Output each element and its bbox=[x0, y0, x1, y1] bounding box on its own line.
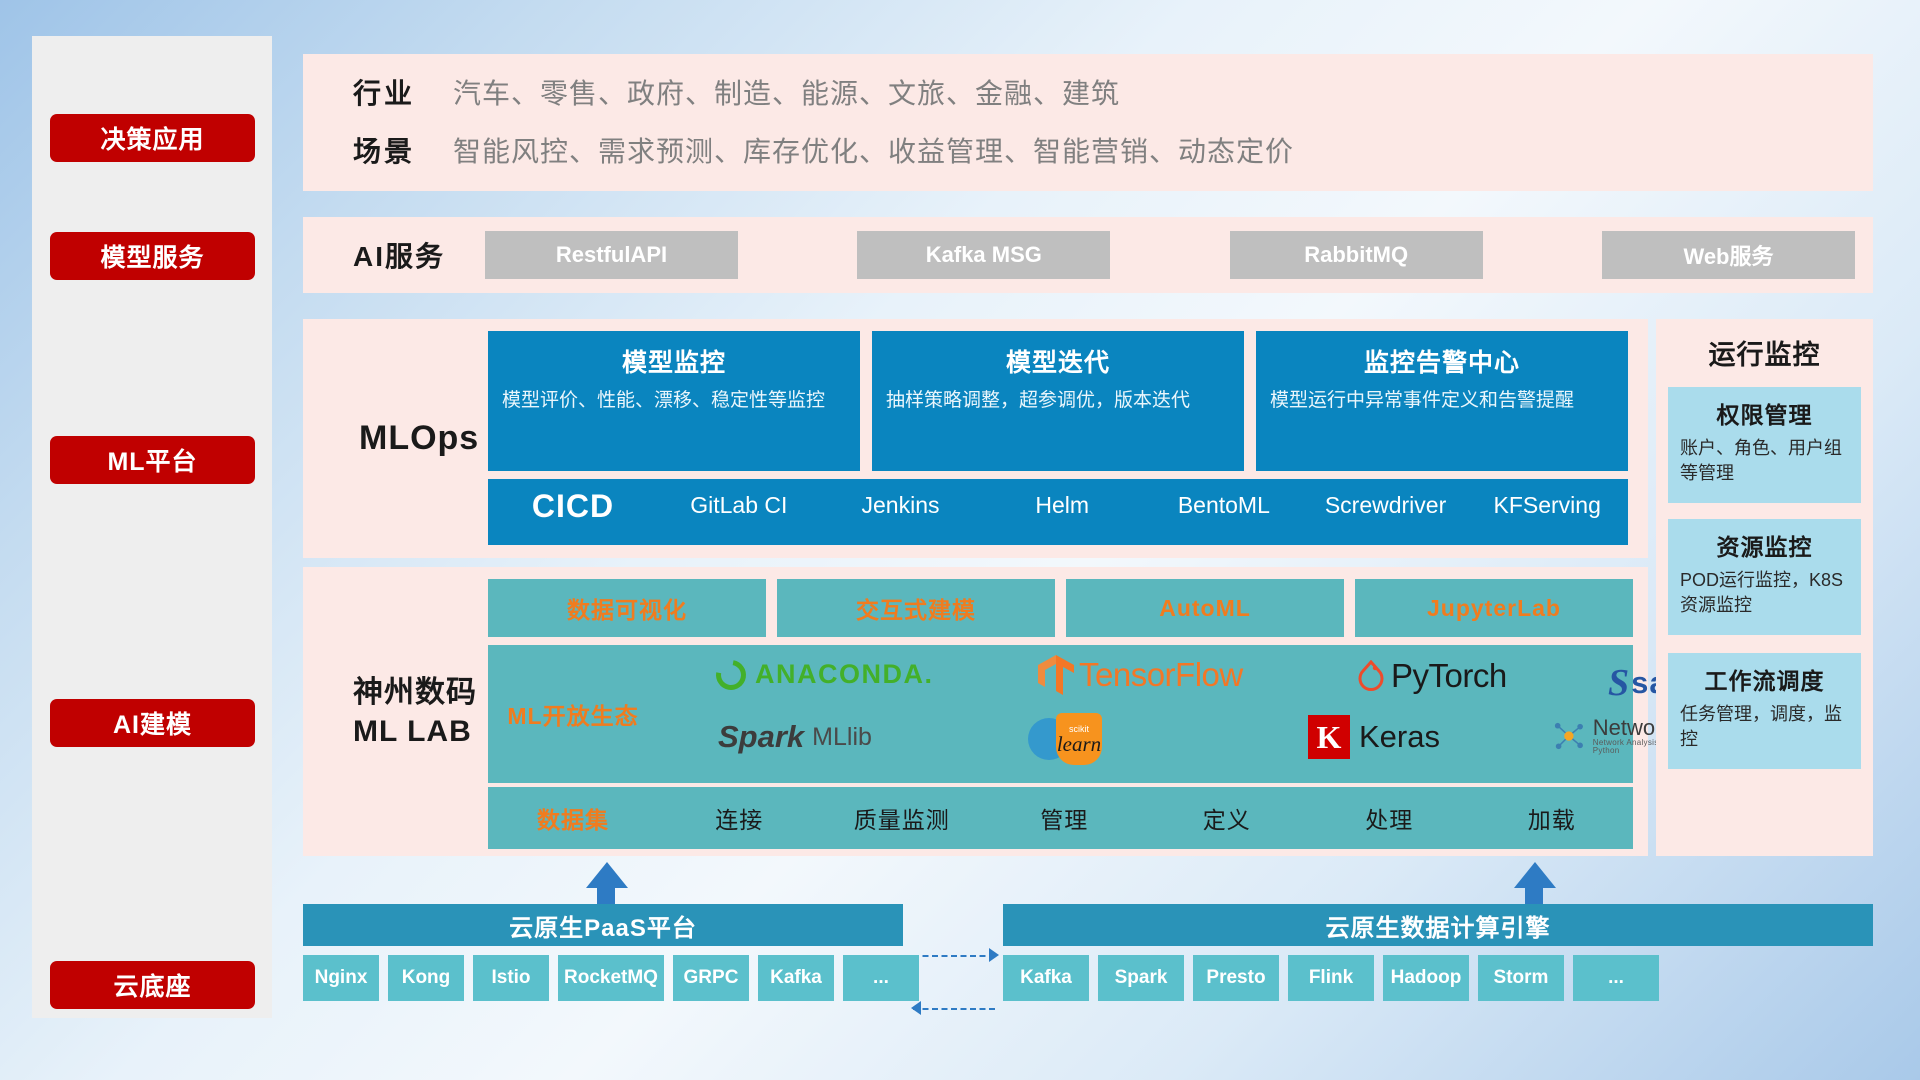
mlops-card-desc: 模型评价、性能、漂移、稳定性等监控 bbox=[502, 388, 846, 414]
mlops-label: MLOps bbox=[359, 319, 479, 558]
ai-service-box-label: Kafka MSG bbox=[926, 242, 1042, 268]
architecture-diagram: 决策应用 模型服务 ML平台 AI建模 云底座 行业 汽车、零售、政府、制造、能… bbox=[0, 0, 1920, 1080]
cloud-chip[interactable]: Hadoop bbox=[1383, 955, 1469, 1001]
rail-label: ML平台 bbox=[107, 442, 197, 478]
dataset-item[interactable]: 处理 bbox=[1308, 801, 1471, 835]
scikit-learn-logo: scikit learn bbox=[1028, 713, 1102, 765]
cloud-engine-chip-list: Kafka Spark Presto Flink Hadoop Storm ..… bbox=[1003, 955, 1659, 1001]
monitor-card[interactable]: 工作流调度 任务管理，调度，监控 bbox=[1668, 653, 1861, 769]
tensorflow-icon bbox=[1038, 655, 1074, 695]
scikit-orange-icon: scikit learn bbox=[1056, 713, 1102, 765]
ai-service-box-list: RestfulAPI Kafka MSG RabbitMQ Web服务 bbox=[485, 231, 1855, 279]
arrow-stem-left bbox=[597, 886, 615, 904]
dataset-item[interactable]: 管理 bbox=[983, 801, 1146, 835]
pytorch-logo: PyTorch bbox=[1358, 657, 1507, 695]
rail-item-cloud-base[interactable]: 云底座 bbox=[50, 961, 255, 1009]
monitor-card-desc: POD运行监控，K8S资源监控 bbox=[1680, 568, 1849, 618]
scenario-label: 场景 bbox=[323, 130, 453, 170]
cloud-chip[interactable]: Storm bbox=[1478, 955, 1564, 1001]
rail-label: 模型服务 bbox=[100, 238, 204, 274]
anaconda-label: ANACONDA. bbox=[755, 659, 934, 690]
ai-service-label: AI服务 bbox=[353, 217, 445, 293]
mlops-card-list: 模型监控 模型评价、性能、漂移、稳定性等监控 模型迭代 抽样策略调整，超参调优，… bbox=[488, 331, 1628, 471]
scenario-value: 智能风控、需求预测、库存优化、收益管理、智能营销、动态定价 bbox=[453, 130, 1294, 170]
keras-logo: K Keras bbox=[1308, 715, 1440, 759]
dataset-item-list: 连接 质量监测 管理 定义 处理 加载 bbox=[658, 801, 1633, 835]
arrow-stem-right bbox=[1525, 886, 1543, 904]
dataset-item[interactable]: 连接 bbox=[658, 801, 821, 835]
rail-item-ai-modeling[interactable]: AI建模 bbox=[50, 699, 255, 747]
monitor-card-title: 资源监控 bbox=[1680, 528, 1849, 562]
mlops-card-title: 模型监控 bbox=[502, 343, 846, 379]
ai-service-box[interactable]: Kafka MSG bbox=[857, 231, 1110, 279]
arrow-up-right-icon bbox=[1514, 862, 1556, 888]
ml-lab-label-line2: ML LAB bbox=[353, 712, 472, 751]
cicd-item-list: GitLab CI Jenkins Helm BentoML Screwdriv… bbox=[658, 488, 1628, 520]
sas-swirl-icon: S bbox=[1608, 661, 1629, 705]
ml-lab-tool[interactable]: 数据可视化 bbox=[488, 579, 766, 637]
cicd-item[interactable]: GitLab CI bbox=[658, 488, 820, 520]
cloud-paas-bar: 云原生PaaS平台 bbox=[303, 904, 903, 946]
cloud-chip[interactable]: RocketMQ bbox=[558, 955, 664, 1001]
cicd-title: CICD bbox=[488, 488, 658, 525]
dataset-label: 数据集 bbox=[488, 801, 658, 835]
anaconda-icon bbox=[710, 654, 752, 696]
cloud-chip[interactable]: Kong bbox=[388, 955, 464, 1001]
cloud-chip[interactable]: Kafka bbox=[1003, 955, 1089, 1001]
monitor-title: 运行监控 bbox=[1656, 333, 1873, 372]
rail-item-decision-app[interactable]: 决策应用 bbox=[50, 114, 255, 162]
connector-arrow-left-icon bbox=[911, 1001, 921, 1015]
mllib-label: MLlib bbox=[812, 723, 872, 752]
cloud-chip[interactable]: Nginx bbox=[303, 955, 379, 1001]
ai-service-box-label: Web服务 bbox=[1683, 239, 1773, 271]
ai-service-box[interactable]: RabbitMQ bbox=[1230, 231, 1483, 279]
monitor-card[interactable]: 资源监控 POD运行监控，K8S资源监控 bbox=[1668, 519, 1861, 635]
mlops-card-desc: 模型运行中异常事件定义和告警提醒 bbox=[1270, 388, 1614, 414]
ml-ecosystem-logos: ANACONDA. TensorFlow bbox=[658, 645, 1633, 783]
tensorflow-label: TensorFlow bbox=[1079, 656, 1243, 694]
dataset-row: 数据集 连接 质量监测 管理 定义 处理 加载 bbox=[488, 787, 1633, 849]
monitor-card[interactable]: 权限管理 账户、角色、用户组等管理 bbox=[1668, 387, 1861, 503]
dataset-item[interactable]: 定义 bbox=[1146, 801, 1309, 835]
ai-service-box-label: RestfulAPI bbox=[556, 242, 667, 268]
cicd-item[interactable]: Screwdriver bbox=[1305, 488, 1467, 520]
ml-lab-tool-list: 数据可视化 交互式建模 AutoML JupyterLab bbox=[488, 579, 1633, 637]
pytorch-icon bbox=[1358, 660, 1384, 692]
ml-ecosystem-label: ML开放生态 bbox=[488, 697, 658, 731]
networkx-icon bbox=[1553, 719, 1585, 753]
arrow-up-left-icon bbox=[586, 862, 628, 888]
industry-row: 行业 汽车、零售、政府、制造、能源、文旅、金融、建筑 bbox=[323, 72, 1120, 112]
ai-service-box[interactable]: RestfulAPI bbox=[485, 231, 738, 279]
layer-rail: 决策应用 模型服务 ML平台 AI建模 云底座 bbox=[32, 36, 272, 1018]
dataset-item[interactable]: 质量监测 bbox=[821, 801, 984, 835]
mlops-card[interactable]: 监控告警中心 模型运行中异常事件定义和告警提醒 bbox=[1256, 331, 1628, 471]
cicd-bar: CICD GitLab CI Jenkins Helm BentoML Scre… bbox=[488, 479, 1628, 545]
keras-mark: K bbox=[1317, 719, 1342, 756]
rail-item-model-service[interactable]: 模型服务 bbox=[50, 232, 255, 280]
cloud-paas-chip-list: Nginx Kong Istio RocketMQ GRPC Kafka ... bbox=[303, 955, 919, 1001]
rail-label: AI建模 bbox=[113, 705, 192, 741]
cloud-chip[interactable]: GRPC bbox=[673, 955, 749, 1001]
cicd-item[interactable]: Jenkins bbox=[820, 488, 982, 520]
cloud-chip[interactable]: Flink bbox=[1288, 955, 1374, 1001]
ai-service-box-label: RabbitMQ bbox=[1304, 242, 1408, 268]
mlops-card-title: 监控告警中心 bbox=[1270, 343, 1614, 379]
cicd-item[interactable]: Helm bbox=[981, 488, 1143, 520]
dataset-item[interactable]: 加载 bbox=[1471, 801, 1634, 835]
ml-lab-label: 神州数码 ML LAB bbox=[353, 567, 477, 856]
keras-label: Keras bbox=[1359, 719, 1440, 755]
rail-label: 云底座 bbox=[113, 967, 191, 1003]
mlops-card-desc: 抽样策略调整，超参调优，版本迭代 bbox=[886, 388, 1230, 414]
cloud-chip[interactable]: Spark bbox=[1098, 955, 1184, 1001]
cloud-data-engine-bar: 云原生数据计算引擎 bbox=[1003, 904, 1873, 946]
connector-dashed-bottom bbox=[913, 1008, 995, 1010]
tensorflow-logo: TensorFlow bbox=[1038, 655, 1243, 695]
ml-ecosystem-row: ML开放生态 ANACONDA. TensorF bbox=[488, 645, 1633, 783]
connector-arrow-right-icon bbox=[989, 948, 999, 962]
monitor-card-desc: 任务管理，调度，监控 bbox=[1680, 702, 1849, 752]
monitor-panel: 运行监控 权限管理 账户、角色、用户组等管理 资源监控 POD运行监控，K8S资… bbox=[1656, 319, 1873, 856]
ml-lab-tool[interactable]: JupyterLab bbox=[1355, 579, 1633, 637]
cloud-chip[interactable]: Istio bbox=[473, 955, 549, 1001]
connector-dashed-top bbox=[913, 955, 995, 957]
industry-label: 行业 bbox=[323, 72, 453, 112]
industry-value: 汽车、零售、政府、制造、能源、文旅、金融、建筑 bbox=[453, 72, 1120, 112]
monitor-card-desc: 账户、角色、用户组等管理 bbox=[1680, 436, 1849, 486]
rail-item-ml-platform[interactable]: ML平台 bbox=[50, 436, 255, 484]
spark-logo: Spark MLlib bbox=[718, 719, 872, 755]
ml-lab-content: 数据可视化 交互式建模 AutoML JupyterLab ML开放生态 ANA… bbox=[488, 579, 1633, 849]
cicd-item[interactable]: KFServing bbox=[1466, 488, 1628, 520]
pytorch-label: PyTorch bbox=[1391, 657, 1507, 695]
ml-lab-tool[interactable]: AutoML bbox=[1066, 579, 1344, 637]
spark-label: Spark bbox=[718, 719, 804, 755]
ml-lab-tool[interactable]: 交互式建模 bbox=[777, 579, 1055, 637]
cloud-chip[interactable]: ... bbox=[843, 955, 919, 1001]
monitor-card-title: 工作流调度 bbox=[1680, 662, 1849, 696]
ml-lab-label-line1: 神州数码 bbox=[353, 673, 477, 712]
cloud-chip[interactable]: Presto bbox=[1193, 955, 1279, 1001]
cloud-chip[interactable]: ... bbox=[1573, 955, 1659, 1001]
main-column: 行业 汽车、零售、政府、制造、能源、文旅、金融、建筑 场景 智能风控、需求预测、… bbox=[303, 0, 1893, 1080]
cloud-chip[interactable]: Kafka bbox=[758, 955, 834, 1001]
ml-lab-panel: 神州数码 ML LAB 数据可视化 交互式建模 AutoML JupyterLa… bbox=[303, 567, 1648, 856]
mlops-card-title: 模型迭代 bbox=[886, 343, 1230, 379]
rail-label: 决策应用 bbox=[100, 120, 204, 156]
industry-panel: 行业 汽车、零售、政府、制造、能源、文旅、金融、建筑 场景 智能风控、需求预测、… bbox=[303, 54, 1873, 191]
scikit-label: learn bbox=[1057, 734, 1101, 755]
mlops-panel: MLOps 模型监控 模型评价、性能、漂移、稳定性等监控 模型迭代 抽样策略调整… bbox=[303, 319, 1648, 558]
scenario-row: 场景 智能风控、需求预测、库存优化、收益管理、智能营销、动态定价 bbox=[323, 130, 1294, 170]
mlops-card[interactable]: 模型监控 模型评价、性能、漂移、稳定性等监控 bbox=[488, 331, 860, 471]
monitor-card-title: 权限管理 bbox=[1680, 396, 1849, 430]
mlops-card[interactable]: 模型迭代 抽样策略调整，超参调优，版本迭代 bbox=[872, 331, 1244, 471]
anaconda-logo: ANACONDA. bbox=[716, 659, 934, 690]
keras-icon: K bbox=[1308, 715, 1350, 759]
ai-service-box[interactable]: Web服务 bbox=[1602, 231, 1855, 279]
ai-service-panel: AI服务 RestfulAPI Kafka MSG RabbitMQ Web服务 bbox=[303, 217, 1873, 293]
cicd-item[interactable]: BentoML bbox=[1143, 488, 1305, 520]
